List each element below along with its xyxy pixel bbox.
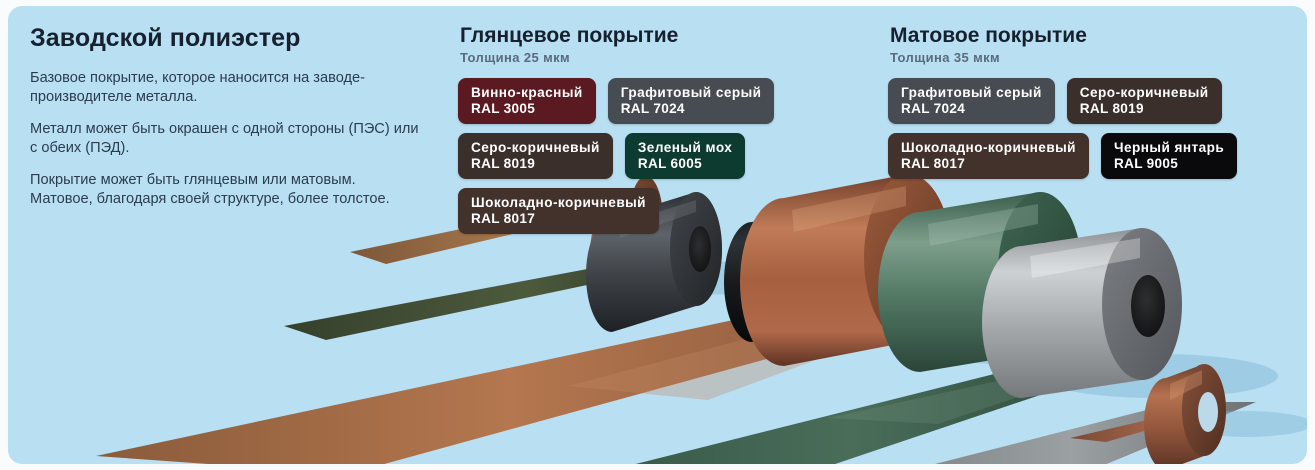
color-chip-ral: RAL 6005 — [638, 156, 732, 172]
color-chip-name: Зеленый мох — [638, 140, 732, 156]
strip-olive — [284, 252, 720, 340]
strip-green — [580, 368, 1120, 464]
coil-green-moss — [878, 192, 1082, 372]
color-chip-ral: RAL 7024 — [621, 101, 762, 117]
page-title: Заводской полиэстер — [30, 24, 436, 53]
color-chip[interactable]: Шоколадно-коричневый RAL 8017 — [888, 133, 1089, 179]
color-chip[interactable]: Графитовый серый RAL 7024 — [888, 78, 1055, 124]
color-chip-ral: RAL 9005 — [1114, 156, 1224, 172]
shadow-grey — [1038, 354, 1278, 398]
color-chip-name: Графитовый серый — [901, 85, 1042, 101]
color-chip-name: Винно-красный — [471, 85, 583, 101]
matte-color-list: Графитовый серый RAL 7024 Серо-коричневы… — [888, 78, 1306, 179]
color-chip-ral: RAL 8017 — [471, 211, 646, 227]
strip-grey — [888, 402, 1256, 464]
color-chip[interactable]: Графитовый серый RAL 7024 — [608, 78, 775, 124]
glossy-title: Глянцевое покрытие — [460, 24, 878, 48]
color-chip-name: Черный янтарь — [1114, 140, 1224, 156]
intro-paragraph-1: Базовое покрытие, которое наносится на з… — [30, 69, 422, 107]
strip-brown-small — [1070, 410, 1216, 442]
color-chip-ral: RAL 8017 — [901, 156, 1076, 172]
glossy-coating-column: Глянцевое покрытие Толщина 25 мкм Винно-… — [458, 24, 878, 234]
color-chip-ral: RAL 8019 — [1080, 101, 1209, 117]
strip-copper — [96, 290, 1018, 464]
color-chip-ral: RAL 3005 — [471, 101, 583, 117]
color-chip-ral: RAL 7024 — [901, 101, 1042, 117]
color-chip[interactable]: Серо-коричневый RAL 8019 — [458, 133, 613, 179]
shadow-green — [898, 319, 1162, 365]
coil-shadows — [600, 261, 1307, 437]
matte-title: Матовое покрытие — [890, 24, 1306, 48]
strip-copper-highlight — [568, 296, 988, 400]
intro-column: Заводской полиэстер Базовое покрытие, ко… — [26, 24, 436, 222]
color-chip-name: Серо-коричневый — [471, 140, 600, 156]
color-chip[interactable]: Черный янтарь RAL 9005 — [1101, 133, 1237, 179]
strip-green-highlight — [828, 370, 1098, 424]
color-chip[interactable]: Шоколадно-коричневый RAL 8017 — [458, 188, 659, 234]
strip-black — [612, 316, 830, 359]
product-card: Заводской полиэстер Базовое покрытие, ко… — [8, 6, 1307, 464]
matte-coating-column: Матовое покрытие Толщина 35 мкм Графитов… — [888, 24, 1306, 179]
color-chip-name: Шоколадно-коричневый — [901, 140, 1076, 156]
coil-brown-front — [1144, 364, 1226, 464]
color-chip-name: Шоколадно-коричневый — [471, 195, 646, 211]
metal-strips — [96, 196, 1256, 464]
shadow-graphite — [600, 261, 792, 295]
intro-paragraph-2: Металл может быть окрашен с одной сторон… — [30, 120, 422, 158]
glossy-color-list: Винно-красный RAL 3005 Графитовый серый … — [458, 78, 878, 234]
color-chip[interactable]: Серо-коричневый RAL 8019 — [1067, 78, 1222, 124]
color-chip[interactable]: Зеленый мох RAL 6005 — [625, 133, 745, 179]
matte-thickness: Толщина 35 мкм — [890, 50, 1306, 65]
shadow-copper — [756, 290, 1016, 334]
color-chip[interactable]: Винно-красный RAL 3005 — [458, 78, 596, 124]
intro-paragraph-3: Покрытие может быть глянцевым или матовы… — [30, 171, 422, 209]
shadow-brown-sm — [1180, 411, 1307, 437]
glossy-thickness: Толщина 25 мкм — [460, 50, 878, 65]
color-chip-ral: RAL 8019 — [471, 156, 600, 172]
color-chip-name: Серо-коричневый — [1080, 85, 1209, 101]
coil-grey-light — [982, 228, 1182, 398]
color-chip-name: Графитовый серый — [621, 85, 762, 101]
